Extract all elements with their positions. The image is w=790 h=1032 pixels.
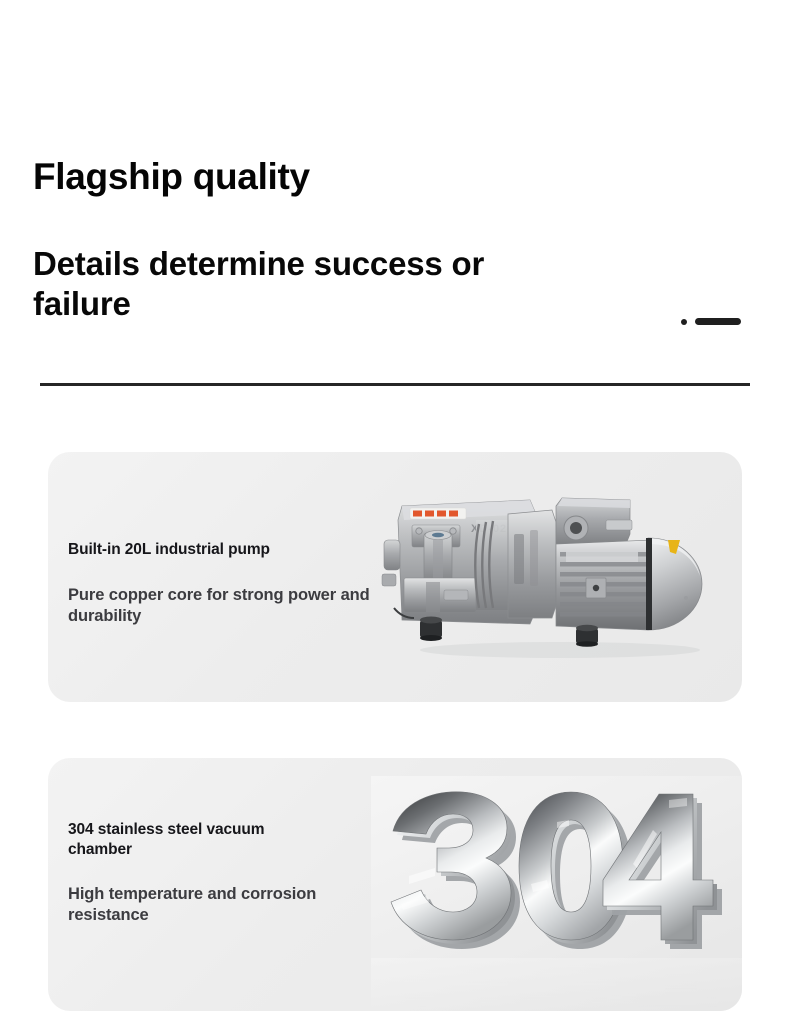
card-text-block: Built-in 20L industrial pump Pure copper… [68,540,408,627]
card-subtitle: Pure copper core for strong power and du… [68,585,408,627]
dash-icon [695,318,741,325]
card-text-block: 304 stainless steel vacuum chamber High … [68,820,318,926]
card-subtitle: High temperature and corrosion resistanc… [68,884,318,926]
dot-icon [681,319,687,325]
ornament [681,318,741,325]
feature-card-pump[interactable]: Built-in 20L industrial pump Pure copper… [48,452,742,702]
page-title: Flagship quality [33,158,753,197]
headline-block: Flagship quality Details determine succe… [33,158,753,324]
feature-card-304[interactable]: 304 stainless steel vacuum chamber High … [48,758,742,1011]
chrome-304-image [371,776,742,1011]
section-divider [40,383,750,386]
card-title: Built-in 20L industrial pump [68,540,408,560]
card-title: 304 stainless steel vacuum chamber [68,820,318,859]
vacuum-pump-image: XD-020 [380,478,730,668]
product-feature-page: Flagship quality Details determine succe… [0,0,790,1032]
page-subtitle: Details determine success or failure [33,244,563,325]
